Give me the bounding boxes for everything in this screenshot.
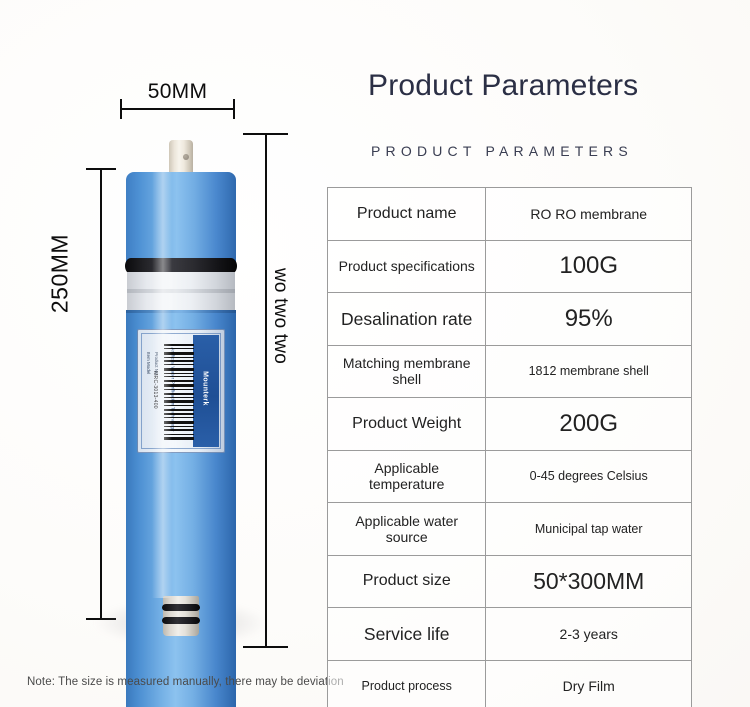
spec-key-cell: Service life	[328, 608, 486, 661]
product-image-panel: 50MM 250MM wo two two Mounterk Artificia…	[0, 0, 320, 707]
spec-value-cell: 2-3 years	[486, 608, 692, 661]
page-subtitle: PRODUCT PARAMETERS	[371, 143, 633, 159]
spec-value-cell: 100G	[486, 240, 692, 293]
label-field-group: Item Model Product No.	[146, 346, 162, 438]
label-field-model: Item Model	[146, 352, 151, 422]
parameters-panel: Product Parameters PRODUCT PARAMETERS Pr…	[327, 0, 750, 707]
spec-value-cell: 95%	[486, 293, 692, 346]
bottom-stem	[163, 596, 199, 636]
spec-value-cell: RO RO membrane	[486, 188, 692, 241]
spec-value-cell: Dry Film	[486, 660, 692, 707]
spec-key-cell: Product Weight	[328, 398, 486, 451]
spec-key-cell: Applicable temperature	[328, 450, 486, 503]
membrane-body-top	[126, 172, 236, 262]
specification-table-body: Product nameRO RO membraneProduct specif…	[328, 188, 692, 707]
white-seal-band	[127, 272, 235, 312]
table-row: Desalination rate95%	[328, 293, 692, 346]
width-dimension-line	[120, 108, 235, 110]
product-label: Mounterk Artificial Water Purification T…	[137, 329, 225, 453]
table-row: Matching membrane shell1812 membrane she…	[328, 345, 692, 398]
measurement-note: Note: The size is measured manually, the…	[27, 676, 344, 688]
spec-key-cell: Desalination rate	[328, 293, 486, 346]
table-row: Service life2-3 years	[328, 608, 692, 661]
spec-key-cell: Applicable water source	[328, 503, 486, 556]
spec-key-cell: Product process	[328, 660, 486, 707]
page-title: Product Parameters	[368, 68, 708, 103]
table-row: Product processDry Film	[328, 660, 692, 707]
height-dimension-label: 250MM	[47, 174, 74, 374]
spec-key-cell: Product specifications	[328, 240, 486, 293]
ro-membrane-illustration: Mounterk Artificial Water Purification T…	[126, 140, 236, 640]
table-row: Product specifications100G	[328, 240, 692, 293]
o-ring-bottom-2	[162, 617, 200, 624]
spec-value-cell: Municipal tap water	[486, 503, 692, 556]
overall-dimension-line	[265, 133, 267, 648]
top-nozzle	[169, 140, 193, 176]
spec-value-cell: 1812 membrane shell	[486, 345, 692, 398]
spec-key-cell: Product size	[328, 555, 486, 608]
spec-key-cell: Product name	[328, 188, 486, 241]
table-row: Applicable water sourceMunicipal tap wat…	[328, 503, 692, 556]
spec-key-cell: Matching membrane shell	[328, 345, 486, 398]
height-dimension-line	[100, 168, 102, 620]
spec-value-cell: 0-45 degrees Celsius	[486, 450, 692, 503]
nozzle-hole-icon	[183, 154, 189, 160]
overall-dimension-label: wo two two	[269, 236, 291, 396]
table-row: Applicable temperature0-45 degrees Celsi…	[328, 450, 692, 503]
spec-value-cell: 50*300MM	[486, 555, 692, 608]
specification-table: Product nameRO RO membraneProduct specif…	[327, 187, 692, 707]
table-row: Product nameRO RO membrane	[328, 188, 692, 241]
barcode-icon	[164, 344, 194, 440]
spec-value-cell: 200G	[486, 398, 692, 451]
label-field-number: Product No.	[154, 352, 159, 422]
table-row: Product Weight200G	[328, 398, 692, 451]
label-brand-text: Mounterk	[202, 334, 209, 444]
membrane-body-bottom	[126, 578, 236, 598]
width-dimension-label: 50MM	[120, 80, 235, 104]
o-ring-bottom-1	[162, 604, 200, 611]
table-row: Product size50*300MM	[328, 555, 692, 608]
